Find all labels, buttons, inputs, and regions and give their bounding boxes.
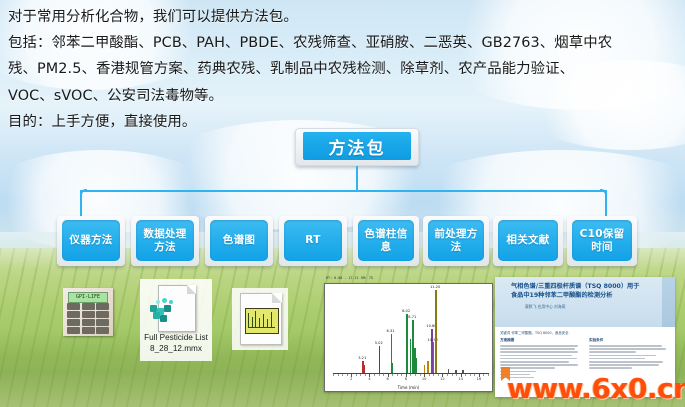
chromatogram-peak	[406, 314, 407, 374]
article-keywords: 关键词 邻苯二甲酸酯，TSQ 8000，食品安全	[500, 330, 569, 335]
node-box-5[interactable]: 色谱柱信息	[353, 216, 419, 266]
node-fill: 色谱图	[210, 220, 268, 261]
x-minor-tick	[429, 374, 430, 376]
x-minor-tick	[410, 374, 411, 376]
node-label: 色谱柱信息	[362, 228, 409, 253]
node-label: C10保留时间	[578, 228, 627, 253]
calculator-icon[interactable]: GPI-LIFE	[63, 288, 113, 336]
paragraph-line: 残、PM2.5、香港规管方案、药典农残、乳制品中农残检测、除草剂、农产品能力验证…	[8, 56, 680, 82]
slide-canvas: 对于常用分析化合物，我们可以提供方法包。 包括：邻苯二甲酸酯、PCB、PAH、P…	[0, 0, 685, 407]
x-tick-label: 2	[350, 377, 352, 381]
chromatogram-peak	[379, 346, 380, 373]
chromatogram-peak	[392, 363, 393, 373]
x-minor-tick	[360, 374, 361, 376]
node-label: 前处理方法	[432, 228, 479, 253]
chromatogram-plot[interactable]: RT: 0.00 - 17.11 SM: 7G 3.215.026.318.02…	[324, 283, 493, 392]
article-column-right: 实验条件	[589, 338, 667, 371]
article-authors: 赛默飞 应用中心 刘海燕	[525, 304, 565, 310]
node-box-2[interactable]: 数据处理方法	[131, 216, 199, 266]
chromatogram-peaks-area: 3.215.026.318.028.7110.8010.9511.20	[333, 288, 489, 373]
article-title: 气相色谱/三重四极杆质谱（TSQ 8000）用于食品中19种邻苯二甲酸酯的检测分…	[511, 283, 645, 300]
x-minor-tick	[433, 374, 434, 376]
method-package-header-fill: 方法包	[303, 132, 411, 160]
molecule-cube-icon	[148, 295, 176, 323]
site-watermark: www.6x0.cn	[507, 372, 685, 405]
chromatogram-peak	[424, 365, 425, 374]
chromatogram-header: RT: 0.00 - 17.11 SM: 7G	[326, 276, 373, 280]
x-minor-tick	[379, 374, 380, 376]
node-fill: 仪器方法	[62, 220, 120, 261]
pesticide-list-filename: Full Pesticide List 8_28_12.mmx	[140, 333, 212, 354]
x-tick-label: 16	[477, 377, 482, 381]
x-minor-tick	[461, 374, 462, 376]
x-minor-tick	[374, 374, 375, 376]
x-minor-tick	[488, 374, 489, 376]
chromatogram-peak	[427, 361, 428, 373]
x-tick-label: 8	[405, 377, 407, 381]
node-box-7[interactable]: 相关文献	[493, 216, 563, 266]
node-fill: C10保留时间	[572, 220, 632, 261]
node-box-6[interactable]: 前处理方法	[423, 216, 489, 266]
x-minor-tick	[356, 374, 357, 376]
node-fill: 数据处理方法	[136, 220, 194, 261]
filename-line-1: Full Pesticide List	[140, 333, 212, 344]
chromatogram-x-ticks: 246810121416	[333, 374, 489, 381]
chromatogram-file-icon[interactable]	[232, 288, 288, 350]
x-minor-tick	[369, 374, 370, 376]
document-page-icon	[240, 293, 282, 345]
method-package-header-box[interactable]: 方法包	[295, 128, 419, 166]
node-row: 仪器方法数据处理方法色谱图RT色谱柱信息前处理方法相关文献C10保留时间	[0, 216, 685, 268]
calculator-screen: GPI-LIFE	[68, 292, 108, 303]
x-minor-tick	[365, 374, 366, 376]
chromatogram-x-label: Time (min)	[325, 385, 492, 390]
x-minor-tick	[452, 374, 453, 376]
x-minor-tick	[456, 374, 457, 376]
node-box-3[interactable]: 色谱图	[205, 216, 273, 266]
chromatogram-peak	[435, 290, 436, 373]
connector-drop-right	[605, 190, 607, 217]
node-fill: 色谱柱信息	[358, 220, 414, 261]
node-label: RT	[303, 234, 322, 247]
chromatogram-thumbnail	[245, 308, 279, 334]
x-tick-label: 10	[422, 377, 427, 381]
x-minor-tick	[406, 374, 407, 376]
chromatogram-peak-label: 11.20	[430, 285, 440, 289]
chromatogram-peak-label: 8.71	[408, 315, 416, 319]
chromatogram-peak-label: 3.21	[358, 356, 366, 360]
paragraph-line: 包括：邻苯二甲酸酯、PCB、PAH、PBDE、农残筛查、亚硝胺、二恶英、GB27…	[8, 30, 680, 56]
node-fill: 相关文献	[498, 220, 558, 261]
chromatogram-peak	[416, 358, 417, 373]
chromatogram-peak-label: 8.02	[402, 309, 410, 313]
chromatogram-peak	[410, 339, 411, 373]
x-minor-tick	[401, 374, 402, 376]
x-minor-tick	[474, 374, 475, 376]
pesticide-list-file-icon[interactable]: Full Pesticide List 8_28_12.mmx	[140, 279, 212, 361]
x-minor-tick	[447, 374, 448, 376]
node-label: 仪器方法	[67, 234, 114, 247]
x-tick-label: 6	[387, 377, 389, 381]
x-minor-tick	[442, 374, 443, 376]
calculator-keys	[67, 303, 109, 334]
x-tick-label: 4	[368, 377, 370, 381]
node-fill: RT	[284, 220, 342, 261]
x-minor-tick	[397, 374, 398, 376]
node-box-8[interactable]: C10保留时间	[567, 216, 637, 266]
x-minor-tick	[383, 374, 384, 376]
node-label: 数据处理方法	[141, 228, 188, 253]
node-box-1[interactable]: 仪器方法	[57, 216, 125, 266]
node-fill: 前处理方法	[428, 220, 484, 261]
x-minor-tick	[333, 374, 334, 376]
paragraph-line: 对于常用分析化合物，我们可以提供方法包。	[8, 4, 680, 30]
article-column-right-heading: 实验条件	[589, 338, 667, 343]
x-minor-tick	[351, 374, 352, 376]
paragraph-line: VOC、sVOC、公安司法毒物等。	[8, 83, 680, 109]
node-label: 色谱图	[221, 234, 257, 247]
x-tick-label: 12	[440, 377, 445, 381]
x-minor-tick	[483, 374, 484, 376]
node-label: 相关文献	[504, 234, 551, 247]
x-tick-label: 14	[458, 377, 463, 381]
article-column-left-heading: 方案摘要	[500, 338, 578, 343]
x-minor-tick	[342, 374, 343, 376]
node-box-4[interactable]: RT	[279, 216, 347, 266]
x-minor-tick	[388, 374, 389, 376]
x-minor-tick	[347, 374, 348, 376]
filename-line-2: 8_28_12.mmx	[140, 344, 212, 355]
chromatogram-peak	[364, 365, 365, 374]
connector-horizontal-bar	[80, 190, 607, 192]
x-minor-tick	[392, 374, 393, 376]
x-minor-tick	[438, 374, 439, 376]
article-header-sidebar	[662, 277, 675, 327]
connector-drop-left	[80, 190, 82, 217]
x-minor-tick	[420, 374, 421, 376]
x-minor-tick	[415, 374, 416, 376]
chromatogram-peak-label: 5.02	[375, 341, 383, 345]
x-minor-tick	[465, 374, 466, 376]
chromatogram-peak	[433, 342, 434, 373]
x-minor-tick	[470, 374, 471, 376]
x-minor-tick	[338, 374, 339, 376]
connector-stem	[356, 166, 358, 191]
x-minor-tick	[424, 374, 425, 376]
chromatogram-peak-label: 6.31	[387, 329, 395, 333]
method-package-header-label: 方法包	[329, 134, 386, 159]
x-minor-tick	[479, 374, 480, 376]
intro-paragraph: 对于常用分析化合物，我们可以提供方法包。 包括：邻苯二甲酸酯、PCB、PAH、P…	[8, 4, 680, 135]
